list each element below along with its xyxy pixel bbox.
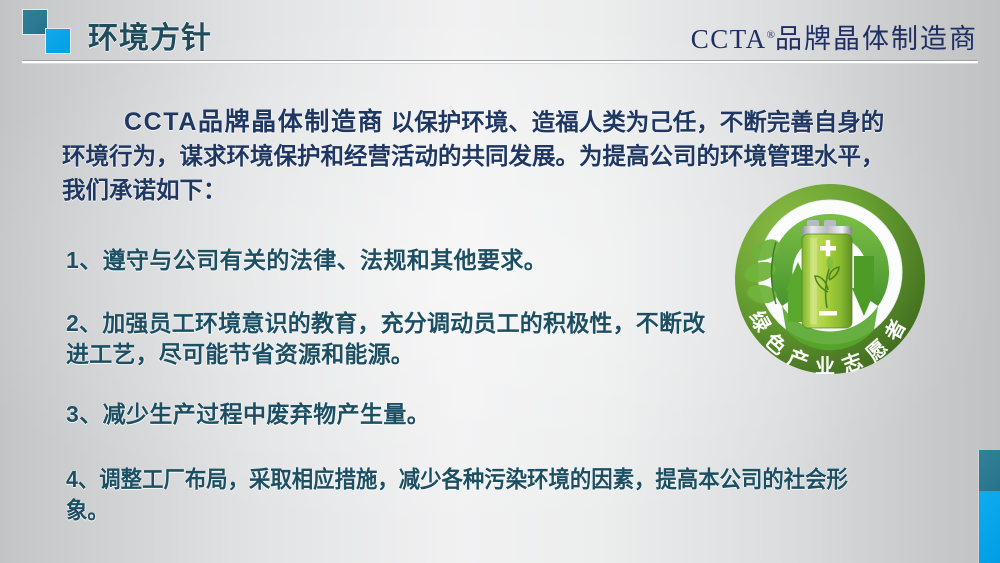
slide: 环境方针 CCTA®品牌晶体制造商 bbox=[0, 0, 1000, 563]
brand-logotype: CCTA®品牌晶体制造商 bbox=[691, 17, 978, 56]
brand-latin: CCTA bbox=[691, 24, 767, 54]
right-accent-bar bbox=[978, 450, 1000, 563]
accent-bar-bottom bbox=[978, 491, 1000, 563]
brand-chinese: 品牌晶体制造商 bbox=[775, 24, 978, 54]
battery-icon bbox=[802, 220, 852, 328]
policy-item-4: 4、调整工厂布局，采取相应措施，减少各种污染环境的因素，提高本公司的社会形象。 bbox=[66, 464, 871, 526]
slide-header: 环境方针 CCTA®品牌晶体制造商 bbox=[0, 0, 1000, 72]
policy-item-3: 3、减少生产过程中废弃物产生量。 bbox=[66, 399, 686, 430]
registered-mark-icon: ® bbox=[767, 29, 775, 41]
accent-bar-top bbox=[978, 450, 1000, 491]
intro-highlight: CCTA品牌晶体制造商 bbox=[124, 108, 384, 136]
page-title: 环境方针 bbox=[88, 13, 212, 57]
policy-item-2: 2、加强员工环境意识的教育，充分调动员工的积极性，不断改进工艺，尽可能节省资源和… bbox=[66, 308, 716, 370]
green-industry-volunteer-badge: 绿色产业志愿者 bbox=[724, 184, 936, 374]
policy-item-1: 1、遵守与公司有关的法律、法规和其他要求。 bbox=[66, 245, 686, 276]
intro-paragraph: CCTA品牌晶体制造商 以保护环境、造福人类为己任，不断完善自身的环境行为，谋求… bbox=[62, 105, 892, 207]
decor-square-light-icon bbox=[45, 28, 71, 54]
header-divider bbox=[22, 60, 978, 64]
